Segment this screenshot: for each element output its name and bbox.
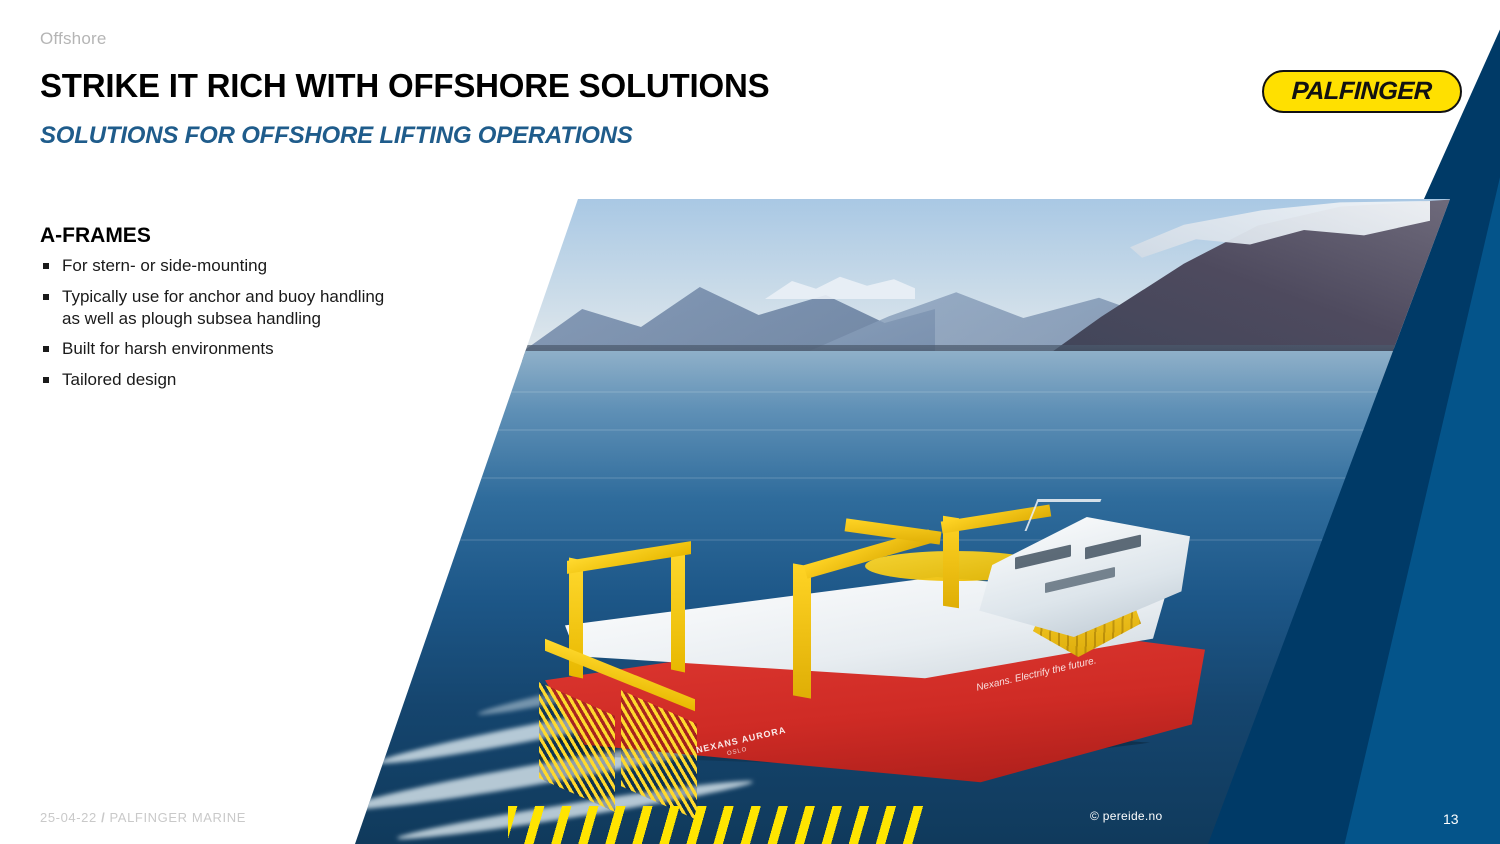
footer-date: 25-04-22 — [40, 810, 97, 825]
photo-credit: © pereide.no — [1090, 809, 1163, 823]
hazard-stripes — [508, 806, 923, 844]
page-subtitle: SOLUTIONS FOR OFFSHORE LIFTING OPERATION… — [40, 122, 633, 150]
mast — [1025, 499, 1102, 531]
a-frame-stern-leg — [671, 546, 685, 673]
list-item: Built for harsh environments — [40, 338, 395, 360]
list-item: Tailored design — [40, 369, 395, 391]
slide-canvas: NEXANS AURORA OSLO Nexans. Electrify the… — [0, 0, 1500, 844]
vessel: NEXANS AURORA OSLO Nexans. Electrify the… — [545, 499, 1245, 819]
section-heading: A-FRAMES — [40, 224, 151, 248]
page-title: STRIKE IT RICH WITH OFFSHORE SOLUTIONS — [40, 67, 769, 105]
page-number: 13 — [1443, 811, 1459, 827]
palfinger-logo-text: PALFINGER — [1292, 77, 1433, 106]
footer-separator: / — [101, 810, 105, 825]
footer-company: PALFINGER MARINE — [110, 810, 247, 825]
list-item: For stern- or side-mounting — [40, 255, 395, 277]
palfinger-logo: PALFINGER — [1262, 70, 1462, 113]
list-item: Typically use for anchor and buoy handli… — [40, 286, 395, 330]
deck-crane-column — [793, 563, 811, 698]
feature-bullet-list: For stern- or side-mounting Typically us… — [40, 255, 395, 400]
eyebrow-label: Offshore — [40, 29, 107, 49]
footer: 25-04-22 / PALFINGER MARINE — [40, 810, 246, 825]
